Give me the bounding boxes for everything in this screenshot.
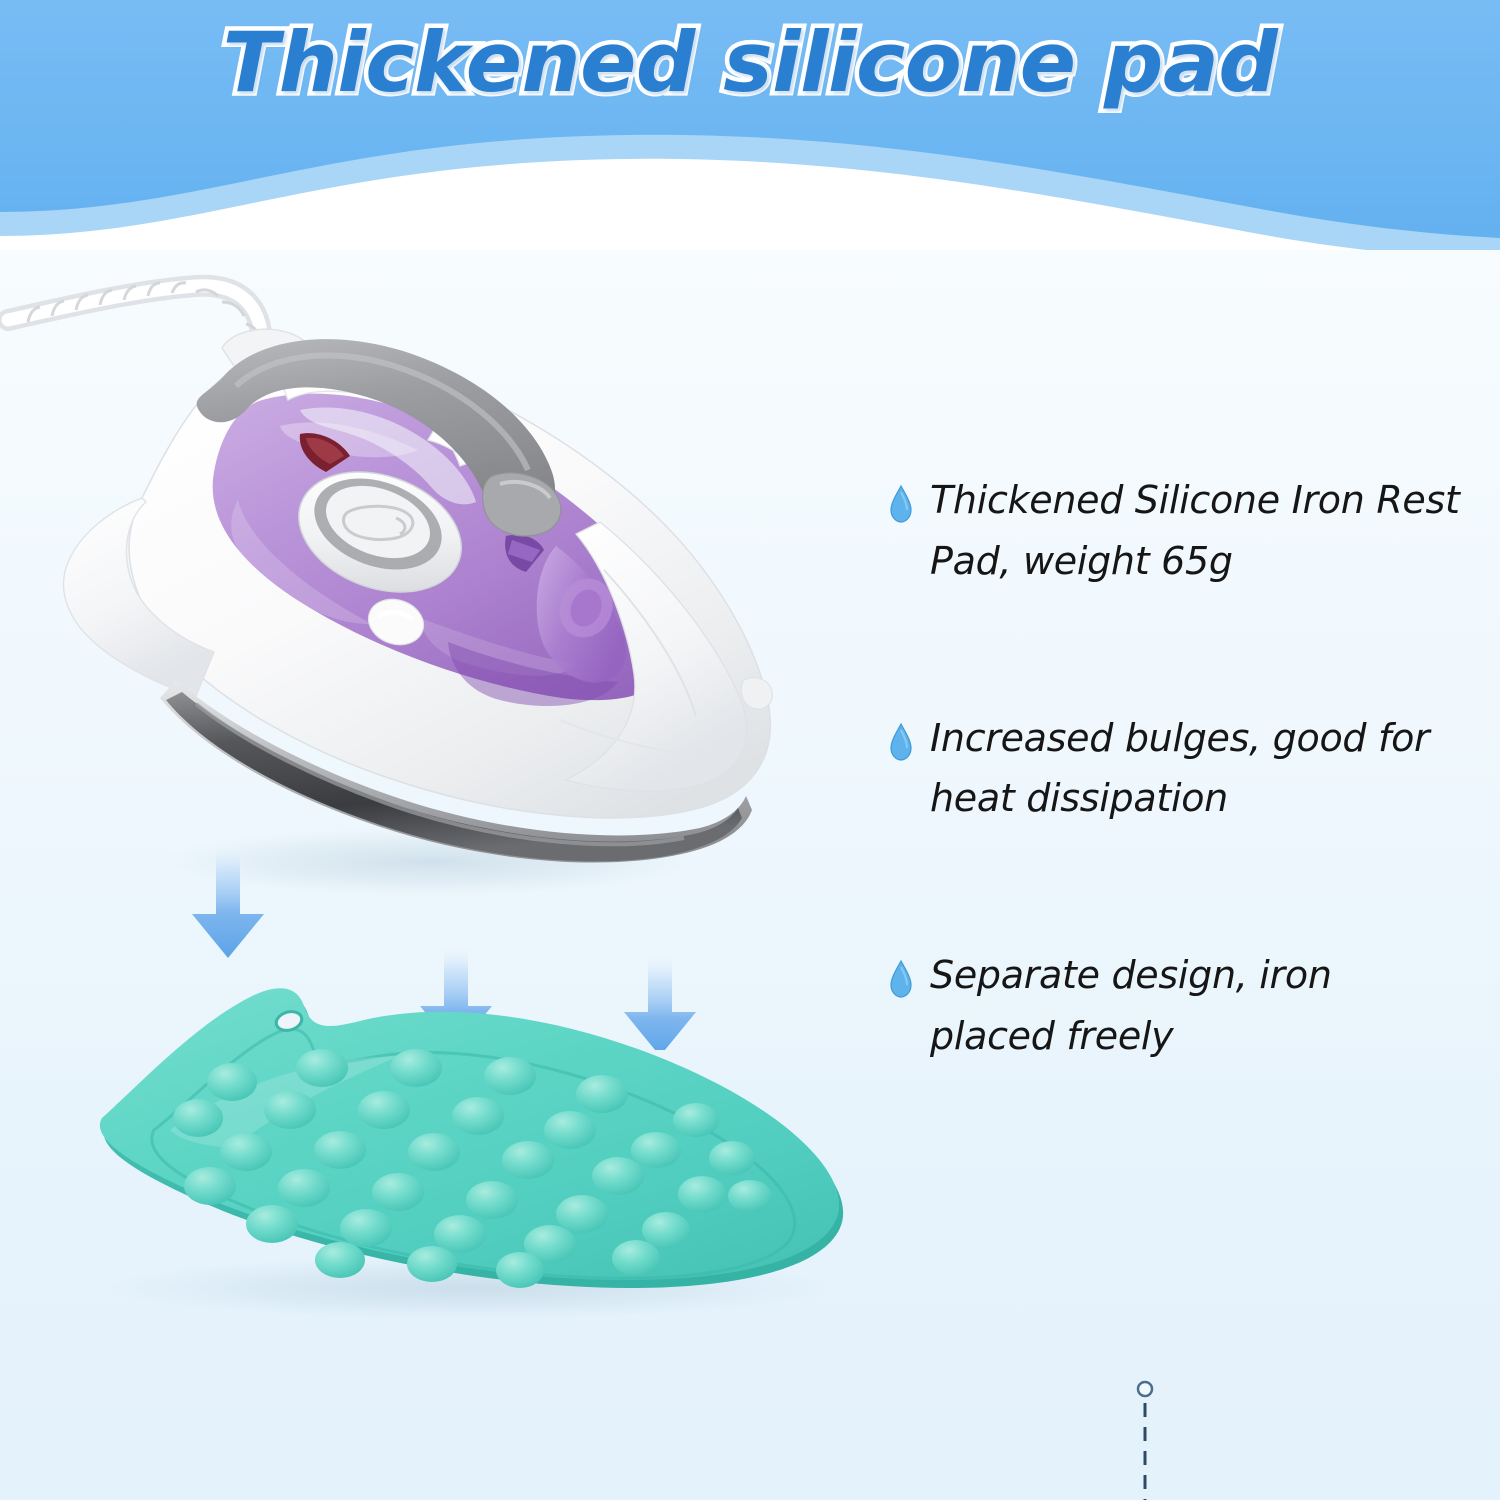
- mat-bump: [264, 1091, 316, 1129]
- mat-bump: [207, 1063, 257, 1101]
- steam-iron-illustration: [0, 250, 900, 930]
- mat-bump: [673, 1103, 719, 1137]
- silicone-iron-rest-pad-image: [50, 970, 890, 1330]
- mat-bump: [709, 1141, 755, 1175]
- mat-bump: [296, 1049, 348, 1087]
- mat-bump: [246, 1205, 298, 1243]
- mat-bump: [484, 1057, 536, 1095]
- dimension-endpoint-top: [1138, 1382, 1152, 1396]
- mat-bump: [390, 1049, 442, 1087]
- mat-bump: [372, 1173, 424, 1211]
- water-droplet-icon: [888, 484, 914, 524]
- water-droplet-icon: [888, 722, 914, 762]
- mat-bump: [496, 1252, 544, 1288]
- mat-bump: [502, 1141, 554, 1179]
- water-droplet-glyph: [888, 959, 914, 999]
- mat-bump: [278, 1169, 330, 1207]
- feature-list: Thickened Silicone Iron Rest Pad, weight…: [888, 470, 1488, 1183]
- mat-bump: [612, 1240, 660, 1276]
- feature-item: Thickened Silicone Iron Rest Pad, weight…: [888, 470, 1488, 592]
- mat-bump: [340, 1209, 392, 1247]
- feature-text: Thickened Silicone Iron Rest Pad, weight…: [930, 470, 1488, 592]
- mat-bump: [434, 1215, 486, 1253]
- mat-bump: [314, 1131, 366, 1169]
- mat-bump: [184, 1167, 236, 1205]
- side-latch: [741, 678, 772, 709]
- product-stage: [0, 250, 900, 1500]
- mat-bump: [173, 1099, 223, 1137]
- water-droplet-icon: [888, 959, 914, 999]
- mat-bump: [220, 1133, 272, 1171]
- dimension-guide-lines: [820, 1365, 1220, 1500]
- mat-bump: [544, 1111, 596, 1149]
- mat-bump: [452, 1097, 504, 1135]
- mat-bump: [407, 1246, 457, 1282]
- silicone-mat-illustration: [50, 970, 890, 1330]
- mat-bump: [315, 1242, 365, 1278]
- steam-iron-image: [0, 250, 900, 930]
- infographic-page: Thickened silicone pad: [0, 0, 1500, 1500]
- power-cord: [8, 283, 262, 346]
- page-title: Thickened silicone pad: [0, 14, 1500, 111]
- mat-bump: [358, 1091, 410, 1129]
- mat-bump: [642, 1212, 690, 1248]
- water-droplet-glyph: [888, 484, 914, 524]
- mat-bump: [576, 1075, 628, 1113]
- water-droplet-glyph: [888, 722, 914, 762]
- feature-item: Separate design, iron placed freely: [888, 945, 1488, 1067]
- feature-text: Increased bulges, good for heat dissipat…: [930, 708, 1460, 830]
- mat-bump: [678, 1176, 726, 1212]
- dimension-guide: [820, 1365, 1220, 1500]
- mat-bump: [592, 1157, 644, 1195]
- mat-bump: [466, 1181, 518, 1219]
- mat-bump: [408, 1133, 460, 1171]
- feature-item: Increased bulges, good for heat dissipat…: [888, 708, 1488, 830]
- feature-text: Separate design, iron placed freely: [930, 945, 1360, 1067]
- mat-bump: [631, 1132, 681, 1168]
- header-banner: Thickened silicone pad: [0, 0, 1500, 250]
- mat-bump: [728, 1180, 772, 1212]
- mat-bump: [556, 1195, 608, 1233]
- arrow-down-1: [192, 838, 264, 958]
